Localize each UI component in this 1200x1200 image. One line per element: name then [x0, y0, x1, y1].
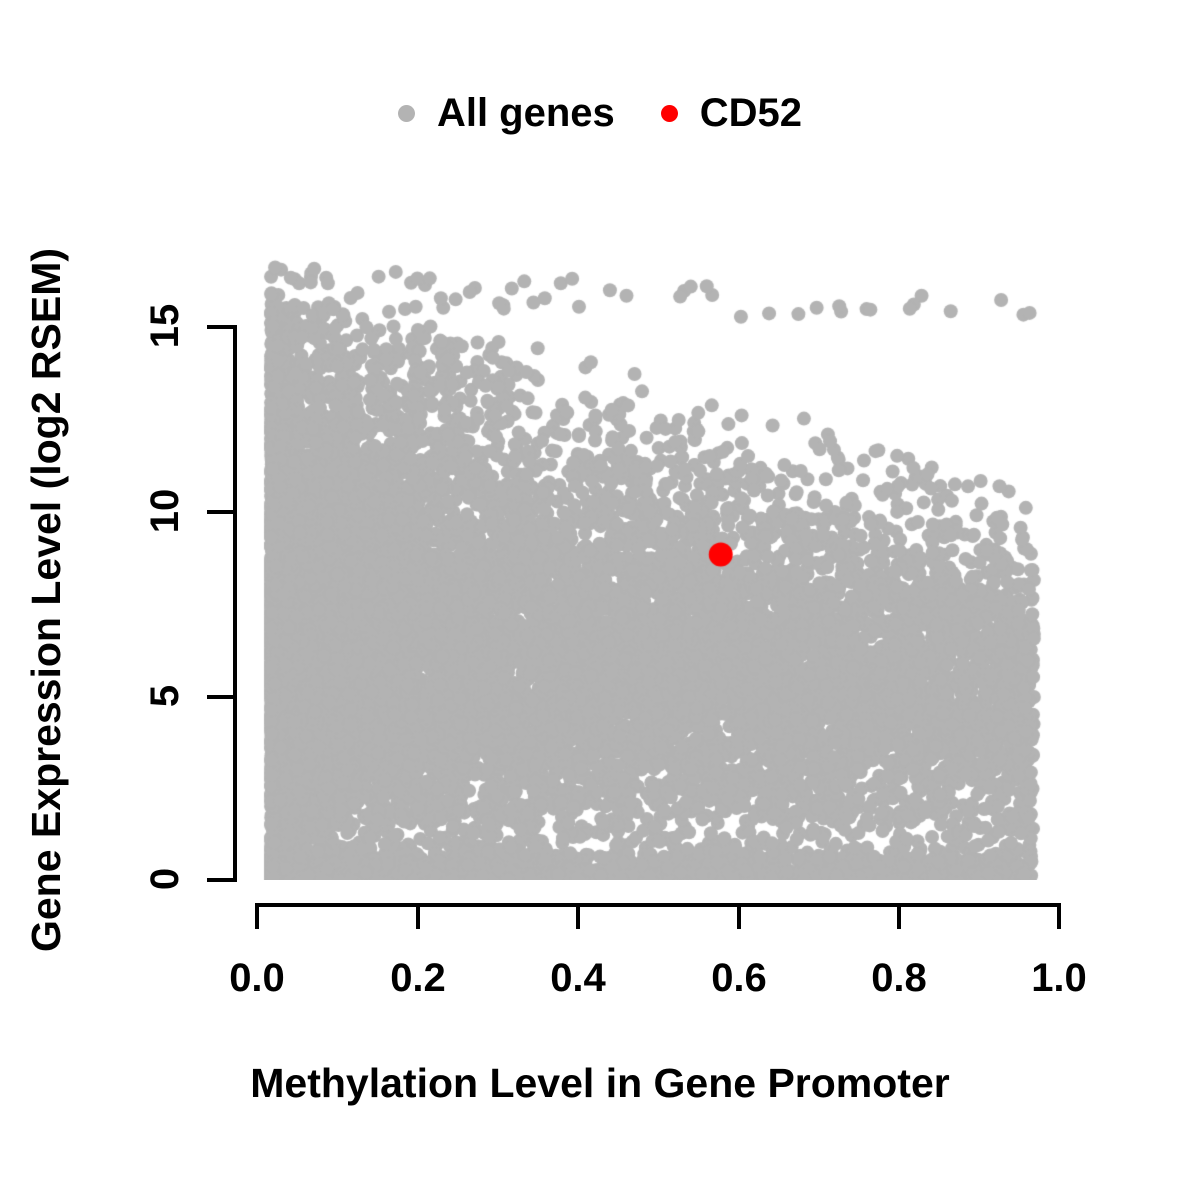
- y-axis-line: [233, 325, 237, 882]
- legend-label-all-genes: All genes: [437, 93, 615, 133]
- legend-entry-cd52: CD52: [661, 93, 802, 133]
- y-axis-title: Gene Expression Level (log2 RSEM): [21, 190, 71, 1010]
- scatter-points-canvas: [215, 235, 1098, 880]
- x-axis-tick-label-0.2: 0.2: [358, 955, 478, 1001]
- y-axis-tick-10: [207, 510, 233, 514]
- x-axis-tick-0.8: [897, 903, 901, 929]
- x-axis-tick-label-0.8: 0.8: [839, 955, 959, 1001]
- x-axis-tick-label-0.4: 0.4: [518, 955, 638, 1001]
- legend-dot-cd52-icon: [661, 105, 678, 122]
- chart-legend: All genes CD52: [0, 78, 1200, 148]
- y-axis-tick-5: [207, 695, 233, 699]
- x-axis-title: Methylation Level in Gene Promoter: [0, 1058, 1200, 1108]
- x-axis-tick-label-0.0: 0.0: [197, 955, 317, 1001]
- x-axis-tick-label-1.0: 1.0: [999, 955, 1119, 1001]
- x-axis-tick-1.0: [1057, 903, 1061, 929]
- x-axis-tick-label-0.6: 0.6: [679, 955, 799, 1001]
- legend-dot-all-genes-icon: [398, 105, 415, 122]
- y-axis-tick-0: [207, 878, 233, 882]
- x-axis-tick-0.4: [576, 903, 580, 929]
- y-axis-tick-15: [207, 325, 233, 329]
- x-axis-line: [255, 903, 1060, 907]
- legend-label-cd52: CD52: [700, 93, 802, 133]
- legend-entry-all-genes: All genes: [398, 93, 615, 133]
- y-axis-tick-label-5: 5: [142, 656, 188, 736]
- scatter-plot-figure: All genes CD52 15 10 5 0 0.0 0.2 0.4 0.6…: [0, 0, 1200, 1200]
- x-axis-tick-0.2: [416, 903, 420, 929]
- y-axis-tick-label-15: 15: [142, 286, 188, 366]
- y-axis-tick-label-0: 0: [142, 839, 188, 919]
- x-axis-tick-0.0: [255, 903, 259, 929]
- plot-area: [255, 325, 1058, 880]
- x-axis-tick-0.6: [737, 903, 741, 929]
- y-axis-tick-label-10: 10: [142, 471, 188, 551]
